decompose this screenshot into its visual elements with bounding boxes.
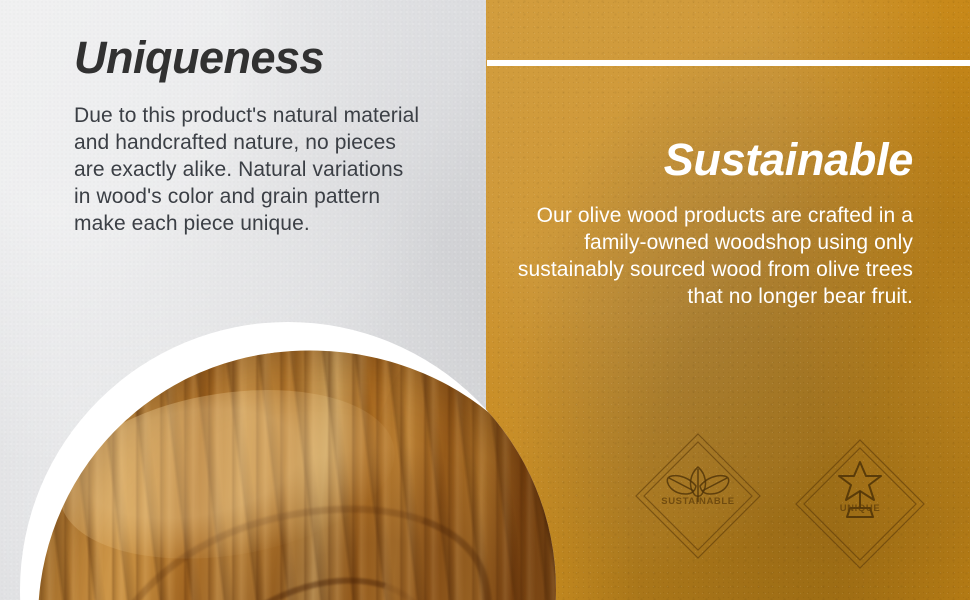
badge-sustainable-label: SUSTAINABLE xyxy=(628,496,768,507)
badge-sustainable: SUSTAINABLE xyxy=(628,424,768,576)
infographic-canvas: Uniqueness Due to this product's natural… xyxy=(0,0,970,600)
diamond-outline-icon xyxy=(790,424,930,576)
badge-unique-label: UNIQUE xyxy=(790,503,930,514)
right-text-block: Sustainable Our olive wood products are … xyxy=(513,136,913,311)
uniqueness-heading: Uniqueness xyxy=(74,34,424,81)
left-text-block: Uniqueness Due to this product's natural… xyxy=(74,34,424,238)
uniqueness-body-text: Due to this product's natural material a… xyxy=(74,103,424,237)
sustainable-body-text: Our olive wood products are crafted in a… xyxy=(513,202,913,311)
badge-group: SUSTAINABLE UNIQUE xyxy=(628,424,930,576)
top-divider-rule xyxy=(487,60,970,66)
sustainable-heading: Sustainable xyxy=(513,136,913,185)
badge-unique: UNIQUE xyxy=(790,424,930,576)
